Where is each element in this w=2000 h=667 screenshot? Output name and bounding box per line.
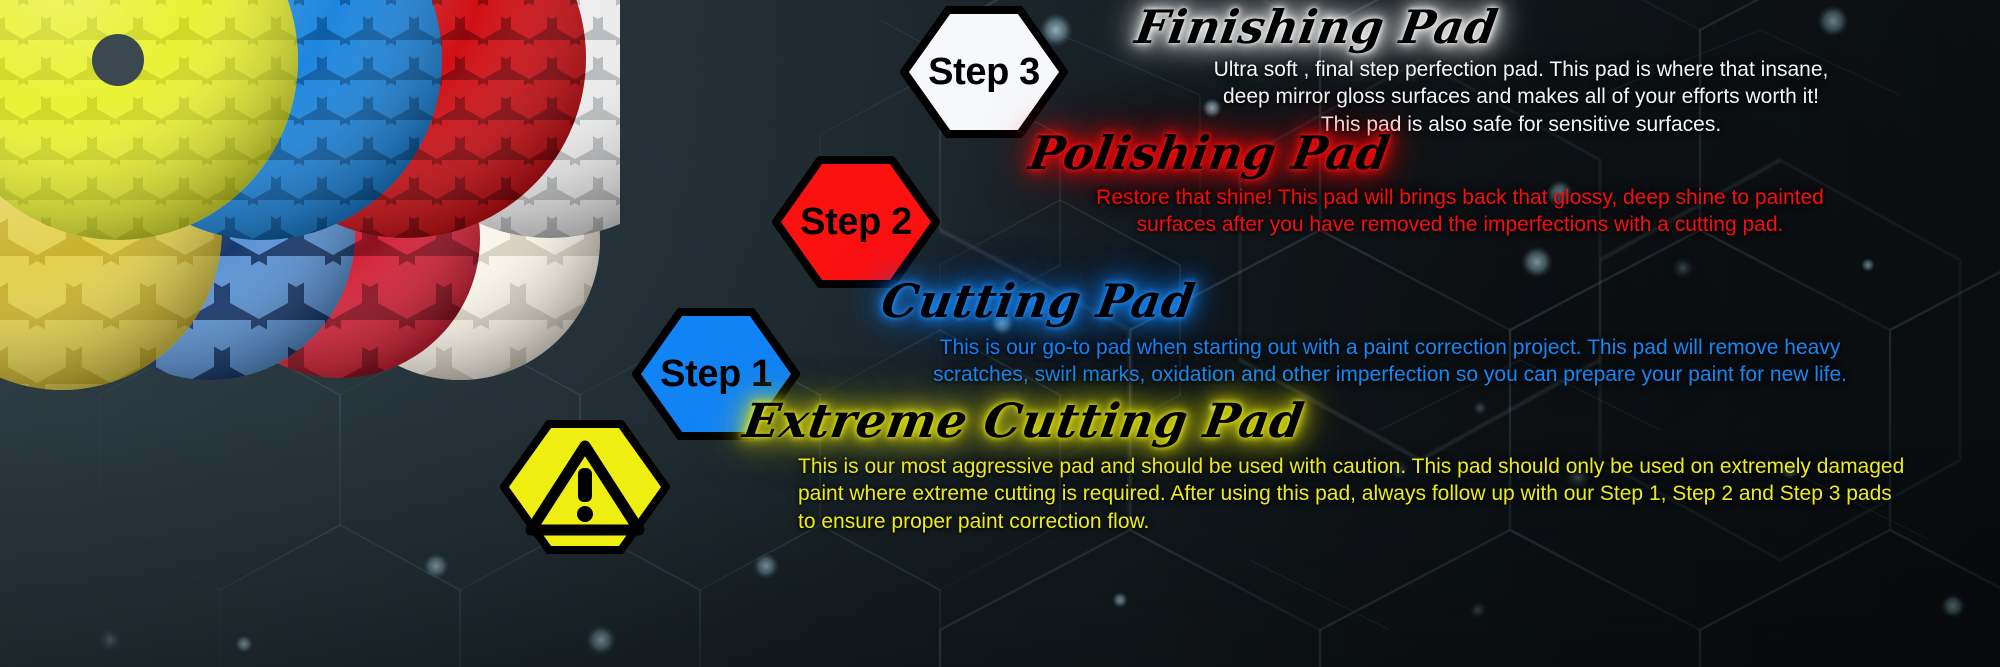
step-badge-3-label: Step 3 (900, 6, 1068, 138)
title-cutting-pad: Cutting Pad (878, 278, 1991, 324)
pad-steps-banner: Step 3 Finishing Pad Ultra soft , final … (0, 0, 2000, 667)
step-row-finishing-pad: Step 3 Finishing Pad Ultra soft , final … (900, 2, 1990, 138)
body-extreme-cutting-pad: This is our most aggressive pad and shou… (798, 453, 2000, 535)
title-polishing-pad: Polishing Pad (1026, 130, 1991, 176)
step-row-extreme-cutting-pad: Extreme Cutting Pad This is our most agg… (500, 398, 1990, 554)
title-extreme-cutting-pad: Extreme Cutting Pad (740, 398, 2000, 445)
step-badge-3[interactable]: Step 3 (900, 6, 1068, 138)
step-row-polishing-pad: Step 2 Polishing Pad Restore that shine!… (772, 130, 1990, 288)
step-badge-2[interactable]: Step 2 (772, 156, 940, 288)
warning-triangle-icon (500, 420, 670, 554)
title-finishing-pad: Finishing Pad (1132, 4, 1983, 50)
step-badge-extreme[interactable] (500, 420, 670, 554)
body-polishing-pad: Restore that shine! This pad will brings… (932, 184, 1988, 239)
body-cutting-pad: This is our go-to pad when starting out … (792, 334, 1988, 389)
step-badge-2-label: Step 2 (772, 156, 940, 288)
